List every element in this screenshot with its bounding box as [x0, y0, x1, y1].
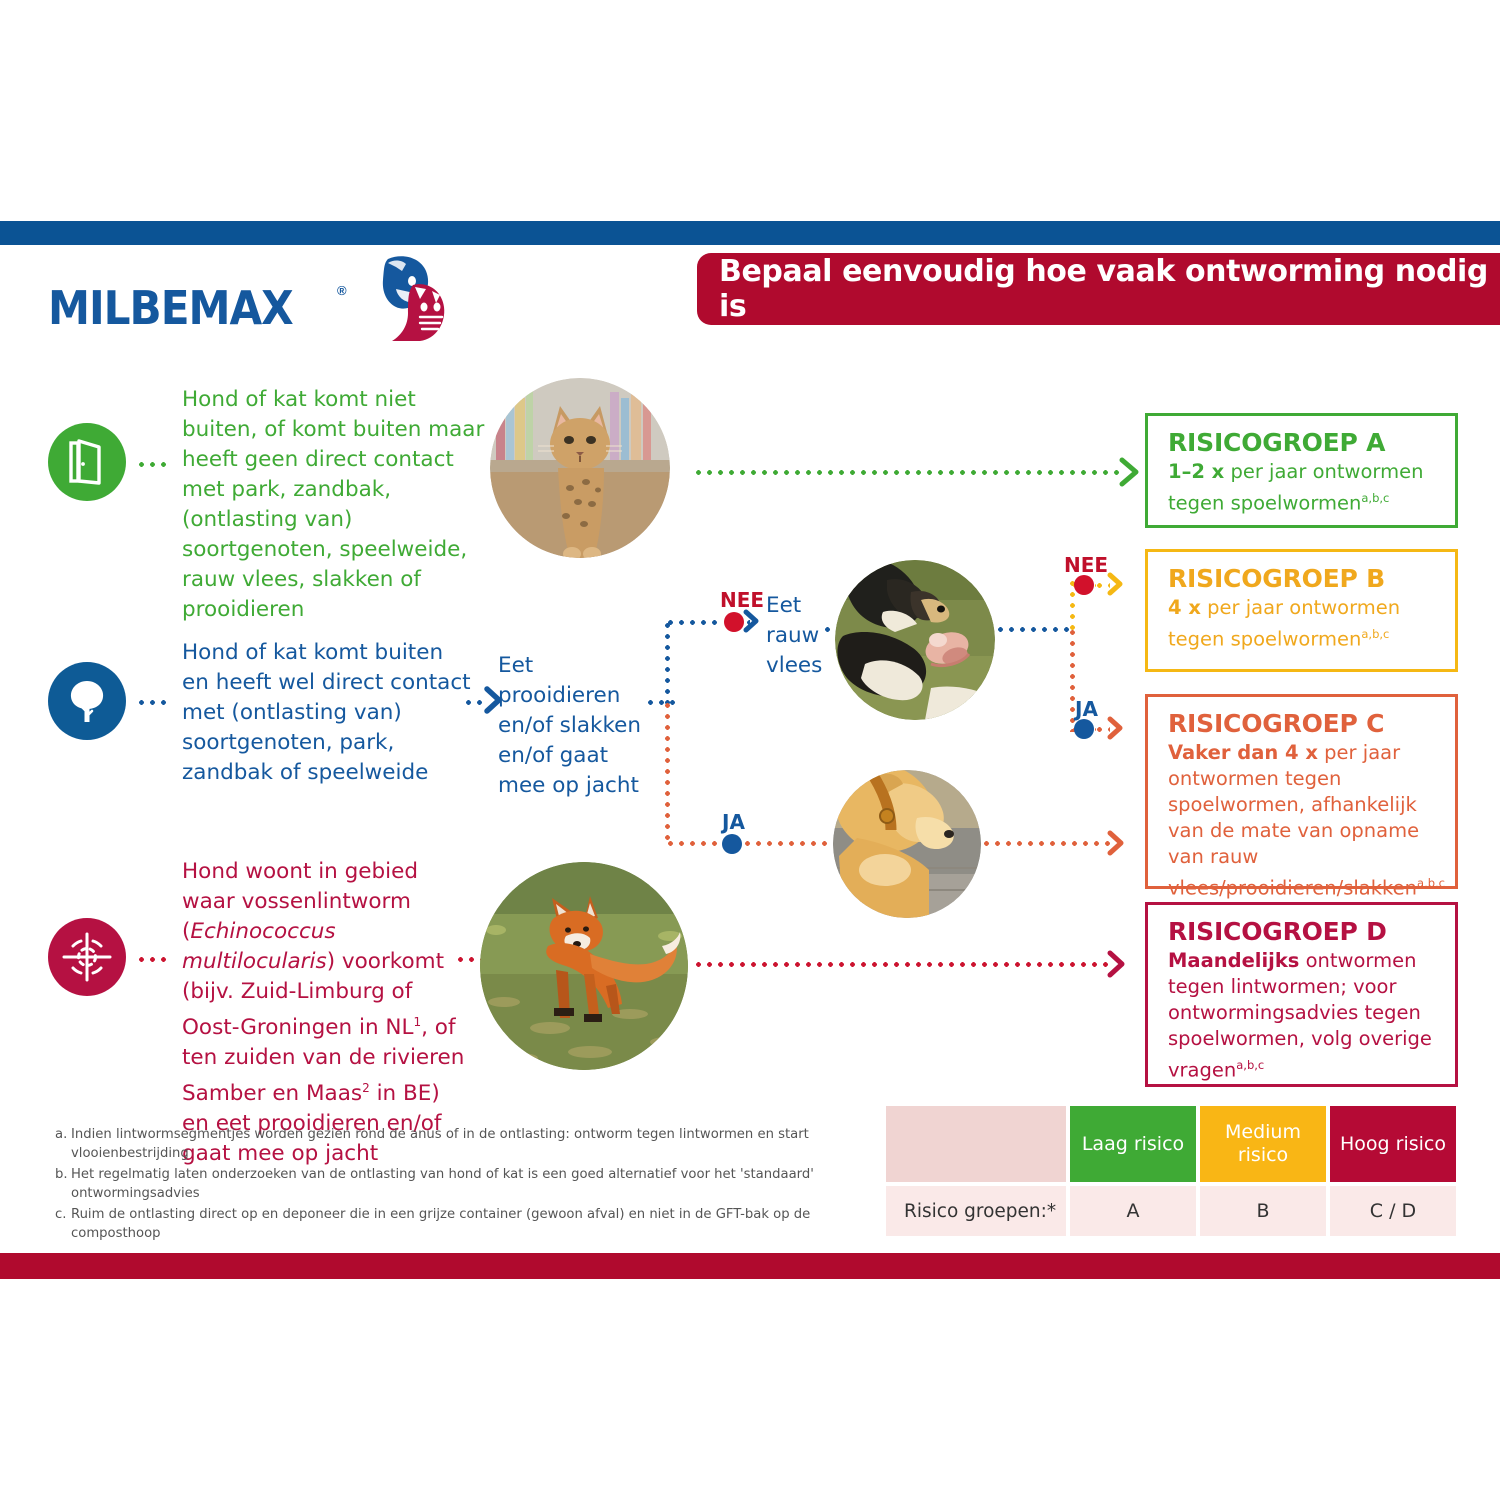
question-d-sup-1: 1 — [414, 1015, 422, 1029]
risk-box-c-sup: a,b,c — [1417, 876, 1445, 890]
risk-box-a: RISICOGROEP A 1–2 x per jaar ontwormen t… — [1145, 413, 1458, 528]
arrowhead-blue-rawmeat — [742, 608, 764, 639]
risk-box-c-title: RISICOGROEP C — [1168, 709, 1441, 738]
footnote-a-text: Indien lintwormsegmentjes worden gezien … — [71, 1125, 830, 1163]
connector-hunt-to-risk-c — [981, 841, 1111, 846]
risk-box-c: RISICOGROEP C Vaker dan 4 x per jaar ont… — [1145, 694, 1458, 889]
legend-header-row: Laag risico Medium risico Hoog risico — [886, 1106, 1460, 1182]
page-title: Bepaal eenvoudig hoe vaak ontworming nod… — [719, 254, 1500, 324]
risk-box-d: RISICOGROEP D Maandelijks ontwormen tege… — [1145, 902, 1458, 1087]
connector-a-to-risk-a — [693, 470, 1123, 475]
connector-icon-to-text-d — [136, 957, 172, 962]
registered-mark: ® — [337, 283, 347, 298]
sidebar-icon-open-door — [48, 423, 126, 501]
sidebar-icon-tree — [48, 662, 126, 740]
dog-carrying-prey-photo — [833, 770, 981, 918]
connector-icon-to-text-a — [136, 462, 172, 467]
risk-box-d-sup: a,b,c — [1236, 1058, 1264, 1072]
legend-value-a: A — [1070, 1186, 1196, 1236]
cat-photo — [490, 378, 670, 558]
node-ja-c — [1074, 719, 1094, 739]
risk-box-c-body: Vaker dan 4 x per jaar ontwormen tegen s… — [1168, 740, 1441, 902]
legend-header-empty — [886, 1106, 1066, 1182]
open-door-icon — [68, 439, 106, 485]
risk-box-a-bold: 1–2 x — [1168, 460, 1224, 483]
risk-box-d-title: RISICOGROEP D — [1168, 917, 1441, 946]
connector-ja-hunt — [665, 841, 721, 846]
sidebar-icon-fox-tapeworm-target — [48, 918, 126, 996]
brand-wordmark: MILBEMAX — [48, 281, 293, 335]
milbemax-logo: MILBEMAX ® — [48, 255, 418, 345]
footnote-b-key: b. — [55, 1165, 71, 1203]
dog-with-raw-meat-photo — [835, 560, 995, 720]
legend-value-b: B — [1200, 1186, 1326, 1236]
footnote-c-text: Ruim de ontlasting direct op en deponeer… — [71, 1205, 830, 1243]
split-vertical-down — [665, 700, 670, 846]
risk-box-c-bold: Vaker dan 4 x — [1168, 741, 1318, 764]
question-text-b: Hond of kat komt buiten en heeft wel dir… — [182, 638, 472, 788]
bottom-red-bar — [0, 1253, 1500, 1279]
label-ja-c: JA — [1075, 697, 1098, 721]
arrowhead-red-d — [1106, 949, 1130, 984]
footnotes: a. Indien lintwormsegmentjes worden gezi… — [55, 1125, 830, 1245]
arrowhead-orange-c — [1106, 715, 1128, 746]
arrowhead-green-a — [1118, 456, 1144, 493]
node-nee-b — [1074, 575, 1094, 595]
connector-icon-to-text-b — [136, 700, 172, 705]
label-nee-b: NEE — [1064, 553, 1108, 577]
footnote-b-text: Het regelmatig laten onderzoeken van de … — [71, 1165, 830, 1203]
risk-box-b: RISICOGROEP B 4 x per jaar ontwormen teg… — [1145, 549, 1458, 672]
connector-followup-to-split — [645, 700, 677, 705]
split-vertical-up — [665, 620, 670, 704]
connector-ja-hunt-photo — [742, 841, 832, 846]
risk-box-a-sup: a,b,c — [1361, 491, 1389, 505]
risk-box-a-title: RISICOGROEP A — [1168, 428, 1441, 457]
legend-row-label: Risico groepen:* — [886, 1186, 1066, 1236]
question-text-a: Hond of kat komt niet buiten, of komt bu… — [182, 385, 492, 625]
question-d-species: Echinococcus multilocularis — [182, 919, 336, 974]
footnote-b: b. Het regelmatig laten onderzoeken van … — [55, 1165, 830, 1203]
connector-fox-to-risk-d — [693, 962, 1111, 967]
fox-tapeworm-target-icon — [62, 932, 112, 982]
risk-box-a-body: 1–2 x per jaar ontwormen tegen spoelworm… — [1168, 459, 1441, 517]
risk-box-b-title: RISICOGROEP B — [1168, 564, 1441, 593]
arrowhead-yellow-b — [1106, 571, 1128, 602]
legend-body-row: Risico groepen:* A B C / D — [886, 1186, 1460, 1236]
connector-photo-to-nee-b — [995, 627, 1073, 632]
risk-box-c-rest: per jaar ontwormen tegen spoelwormen, af… — [1168, 741, 1419, 900]
risk-box-b-sup: a,b,c — [1361, 627, 1389, 641]
top-blue-bar — [0, 221, 1500, 245]
legend-header-medium: Medium risico — [1200, 1106, 1326, 1182]
followup-question-b: Eet prooidieren en/of slakken en/of gaat… — [498, 651, 658, 801]
risk-legend-table: Laag risico Medium risico Hoog risico Ri… — [886, 1106, 1460, 1240]
label-ja-hunt: JA — [722, 810, 745, 834]
node-nee-rawmeat — [724, 612, 744, 632]
footnote-a-key: a. — [55, 1125, 71, 1163]
footnote-c: c. Ruim de ontlasting direct op en depon… — [55, 1205, 830, 1243]
legend-header-low: Laag risico — [1070, 1106, 1196, 1182]
risk-box-b-rest: per jaar ontwormen tegen spoelwormen — [1168, 596, 1400, 651]
risk-box-b-bold: 4 x — [1168, 596, 1201, 619]
header-banner: Bepaal eenvoudig hoe vaak ontworming nod… — [697, 253, 1500, 325]
legend-header-high: Hoog risico — [1330, 1106, 1456, 1182]
risk-box-d-body: Maandelijks ontwormen tegen lintwormen; … — [1168, 948, 1441, 1084]
risk-box-b-body: 4 x per jaar ontwormen tegen spoelwormen… — [1168, 595, 1441, 653]
question-text-d: Hond woont in gebied waar vossenlintworm… — [182, 857, 467, 1169]
connector-nee-to-rawmeat — [665, 620, 721, 625]
infographic-page: MILBEMAX ® Bepaal eenvoudig hoe vaak ont… — [0, 0, 1500, 1500]
question-d-sup-2: 2 — [362, 1081, 370, 1095]
node-ja-hunt — [722, 834, 742, 854]
risk-box-d-bold: Maandelijks — [1168, 949, 1299, 972]
dog-cat-head-logo-icon — [358, 255, 458, 341]
footnote-a: a. Indien lintwormsegmentjes worden gezi… — [55, 1125, 830, 1163]
legend-value-cd: C / D — [1330, 1186, 1456, 1236]
footnote-c-key: c. — [55, 1205, 71, 1243]
decision-eet-rauw-vlees: Eet rauw vlees — [766, 591, 830, 681]
fox-photo — [480, 862, 688, 1070]
arrowhead-orange-c2 — [1106, 829, 1130, 862]
tree-icon — [66, 678, 108, 724]
